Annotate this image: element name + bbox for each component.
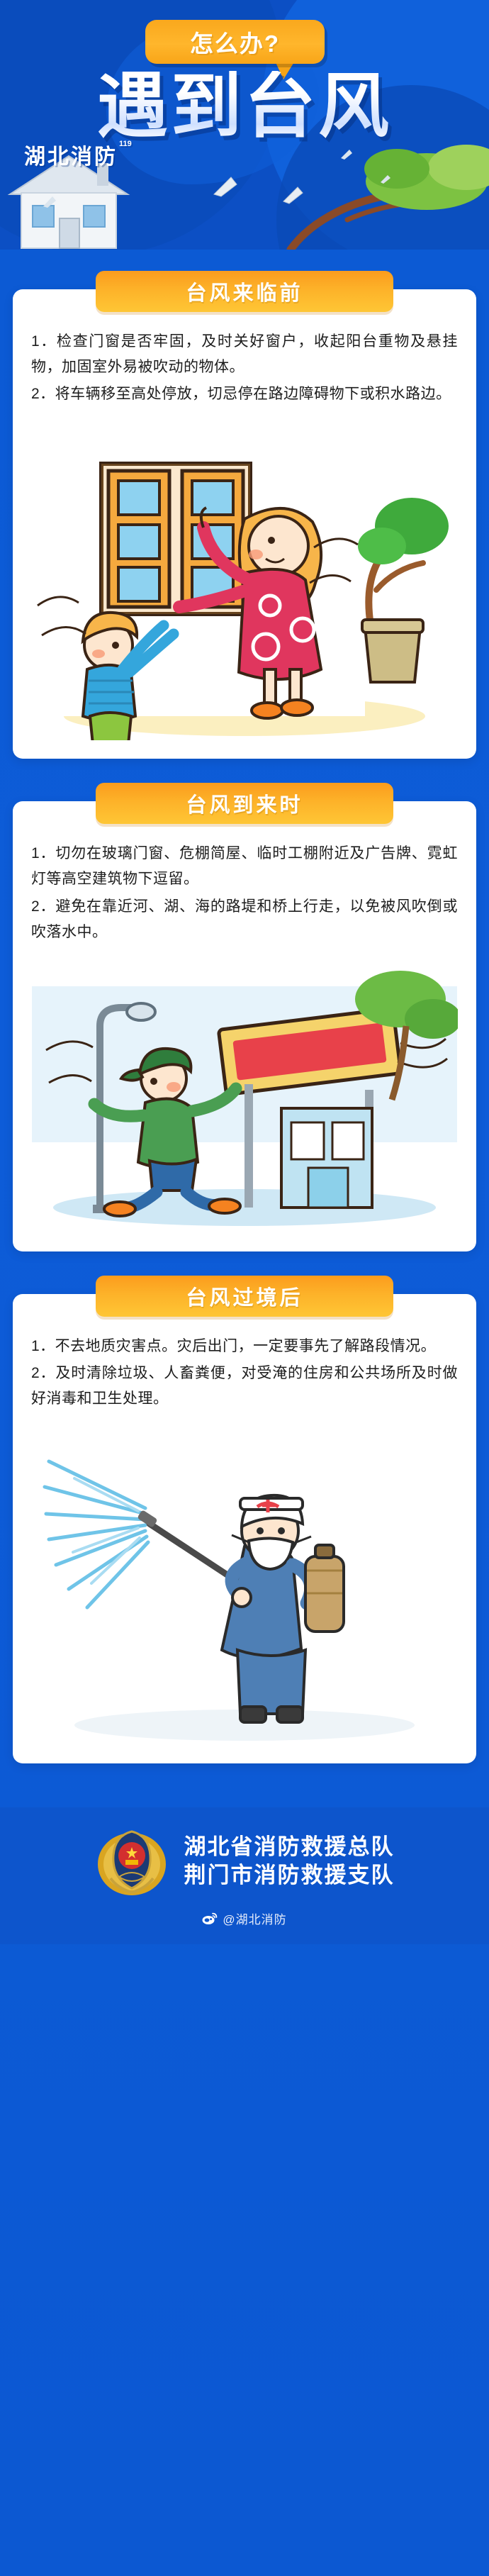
organization-line-1: 湖北省消防救援总队 bbox=[184, 1833, 395, 1861]
brand-name: 湖北消防 119 bbox=[24, 139, 132, 170]
flying-debris-icon bbox=[340, 149, 353, 160]
page-title: 遇到台风 bbox=[0, 71, 489, 142]
bottom-spacer bbox=[0, 1763, 489, 1807]
section-body: 1．不去地质灾害点。灾后出门，一定要事先了解路段情况。 2．及时清除垃圾、人畜粪… bbox=[31, 1334, 458, 1412]
section-line: 1．检查门窗是否牢固，及时关好窗户，收起阳台重物及悬挂物，加固室外易被吹动的物体… bbox=[31, 329, 458, 380]
emergency-number-badge: 119 bbox=[119, 140, 132, 148]
section-line: 2．及时清除垃圾、人畜粪便，对受淹的住房和公共场所及时做好消毒和卫生处理。 bbox=[31, 1361, 458, 1412]
speech-bubble-badge: 怎么办? bbox=[145, 20, 325, 64]
section-header-ribbon: 台风到来时 bbox=[96, 783, 393, 824]
flying-debris-icon bbox=[282, 186, 303, 204]
flying-debris-icon bbox=[43, 196, 57, 208]
badge-text: 怎么办? bbox=[190, 25, 280, 59]
section-before-typhoon: 台风来临前 1．检查门窗是否牢固，及时关好窗户，收起阳台重物及悬挂物，加固室外易… bbox=[0, 250, 489, 759]
worker-disinfecting-illustration bbox=[31, 1424, 458, 1745]
section-header-ribbon: 台风来临前 bbox=[96, 271, 393, 312]
organization-line-2: 荆门市消防救援支队 bbox=[184, 1861, 395, 1890]
section-header-text: 台风过境后 bbox=[186, 1281, 303, 1311]
section-card: 台风过境后 1．不去地质灾害点。灾后出门，一定要事先了解路段情况。 2．及时清除… bbox=[13, 1294, 476, 1763]
flying-debris-icon bbox=[380, 174, 391, 184]
mother-and-child-closing-window-illustration bbox=[31, 420, 458, 740]
infographic-poster: 怎么办? 遇到台风 湖北消防 119 台风来临前 1．检查门窗是否牢固，及时关好… bbox=[0, 0, 489, 2576]
section-header-ribbon: 台风过境后 bbox=[96, 1276, 393, 1317]
weibo-icon bbox=[202, 1912, 218, 1925]
section-line: 1．切勿在玻璃门窗、危棚简屋、临时工棚附近及广告牌、霓虹灯等高空建筑物下逗留。 bbox=[31, 841, 458, 892]
man-running-past-billboard-illustration bbox=[31, 958, 458, 1233]
organization-name: 湖北省消防救援总队 荆门市消防救援支队 bbox=[184, 1833, 395, 1889]
social-handle-text: @湖北消防 bbox=[223, 1909, 286, 1927]
footer: 湖北省消防救援总队 荆门市消防救援支队 @湖北消防 bbox=[0, 1807, 489, 1944]
section-after-typhoon: 台风过境后 1．不去地质灾害点。灾后出门，一定要事先了解路段情况。 2．及时清除… bbox=[0, 1251, 489, 1763]
section-line: 2．将车辆移至高处停放，切忌停在路边障碍物下或积水路边。 bbox=[31, 381, 458, 407]
section-header-text: 台风来临前 bbox=[186, 277, 303, 306]
section-line: 2．避免在靠近河、湖、海的路堤和桥上行走，以免被风吹倒或吹落水中。 bbox=[31, 894, 458, 945]
section-card: 台风来临前 1．检查门窗是否牢固，及时关好窗户，收起阳台重物及悬挂物，加固室外易… bbox=[13, 289, 476, 759]
footer-brand-row: 湖北省消防救援总队 荆门市消防救援支队 bbox=[95, 1824, 395, 1898]
section-during-typhoon: 台风到来时 1．切勿在玻璃门窗、危棚简屋、临时工棚附近及广告牌、霓虹灯等高空建筑… bbox=[0, 759, 489, 1251]
section-line: 1．不去地质灾害点。灾后出门，一定要事先了解路段情况。 bbox=[31, 1334, 458, 1359]
flying-debris-icon bbox=[213, 176, 238, 197]
brand-label: 湖北消防 bbox=[24, 139, 118, 170]
section-header-text: 台风到来时 bbox=[186, 788, 303, 818]
fire-rescue-emblem-icon bbox=[95, 1824, 169, 1898]
section-body: 1．切勿在玻璃门窗、危棚简屋、临时工棚附近及广告牌、霓虹灯等高空建筑物下逗留。 … bbox=[31, 841, 458, 944]
section-body: 1．检查门窗是否牢固，及时关好窗户，收起阳台重物及悬挂物，加固室外易被吹动的物体… bbox=[31, 329, 458, 407]
hero-banner: 怎么办? 遇到台风 湖北消防 119 bbox=[0, 0, 489, 250]
social-handle[interactable]: @湖北消防 bbox=[202, 1909, 286, 1927]
section-card: 台风到来时 1．切勿在玻璃门窗、危棚简屋、临时工棚附近及广告牌、霓虹灯等高空建筑… bbox=[13, 801, 476, 1251]
